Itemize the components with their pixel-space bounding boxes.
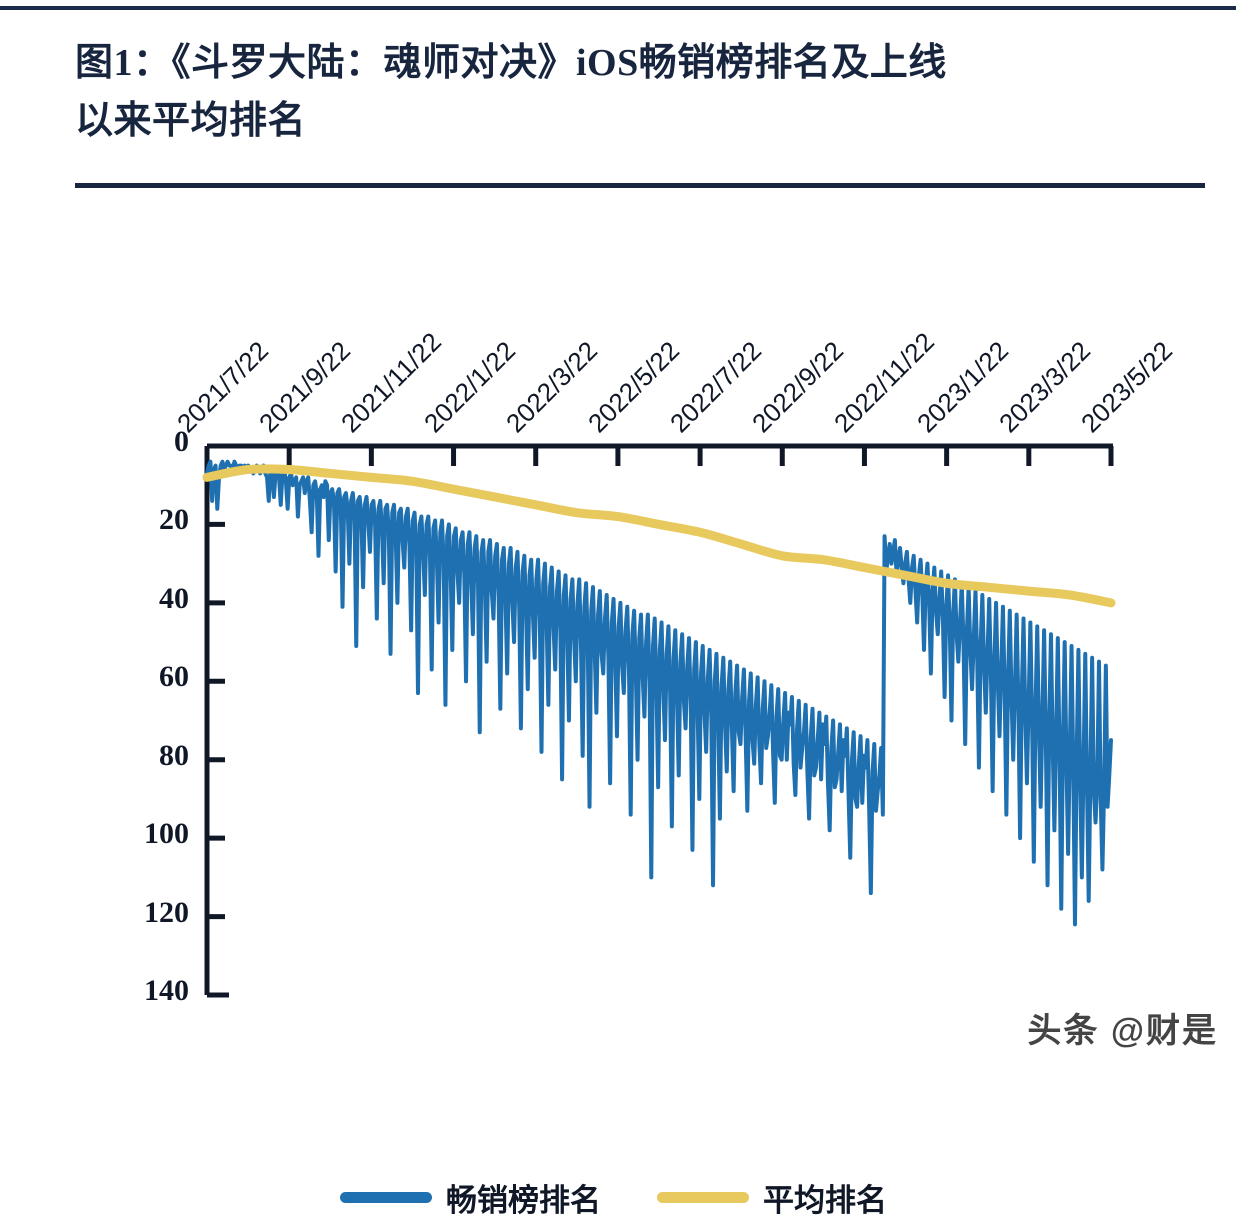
y-tick-label: 100: [69, 817, 189, 851]
y-tick-label: 20: [69, 503, 189, 537]
y-tick-label: 40: [69, 582, 189, 616]
y-tick-label: 140: [69, 974, 189, 1008]
legend-swatch-daily-rank: [340, 1192, 432, 1203]
series-daily-rank: [207, 462, 1111, 925]
legend-item-average-rank[interactable]: 平均排名: [657, 1175, 887, 1220]
figure-title-line-2: 以来平均排名: [75, 92, 1205, 150]
figure-title: 图1：《斗罗大陆：魂师对决》iOS畅销榜排名及上线 以来平均排名: [75, 34, 1205, 150]
figure-title-line-1: 图1：《斗罗大陆：魂师对决》iOS畅销榜排名及上线: [75, 34, 1205, 92]
y-tick-label: 120: [69, 896, 189, 930]
legend-label-daily-rank: 畅销榜排名: [446, 1175, 601, 1220]
top-divider: [0, 6, 1236, 10]
legend-label-average-rank: 平均排名: [763, 1175, 887, 1220]
y-tick-label: 60: [69, 660, 189, 694]
y-tick-label: 0: [69, 425, 189, 459]
chart-legend: 畅销榜排名 平均排名: [340, 1175, 887, 1220]
legend-swatch-average-rank: [657, 1192, 749, 1203]
title-divider: [75, 183, 1205, 188]
chart-canvas: 020406080100120140 2021/7/222021/9/22202…: [0, 195, 1236, 1074]
watermark: 头条 @财是: [1027, 1003, 1218, 1052]
y-tick-label: 80: [69, 739, 189, 773]
legend-item-daily-rank[interactable]: 畅销榜排名: [340, 1175, 601, 1220]
chart-plot-svg: [0, 195, 1236, 1074]
